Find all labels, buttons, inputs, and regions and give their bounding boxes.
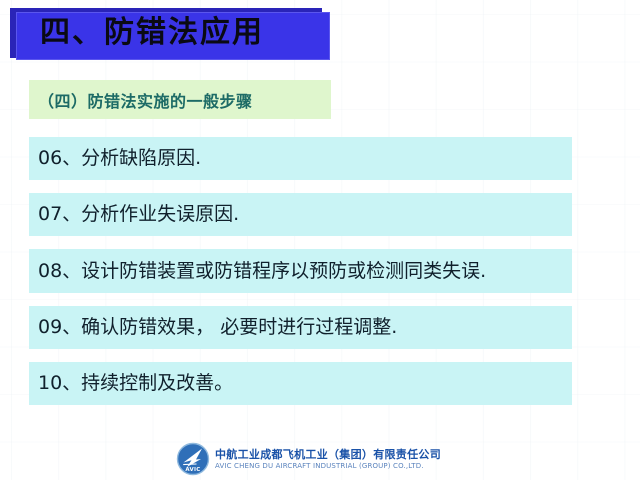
footer-text-group: 中航工业成都飞机工业（集团）有限责任公司 AVIC CHENG DU AIRCR… [215, 448, 441, 471]
company-name-en: AVIC CHENG DU AIRCRAFT INDUSTRIAL (GROUP… [215, 461, 441, 471]
list-item: 10、持续控制及改善。 [29, 362, 572, 405]
page-title: 四、防错法应用 [40, 11, 264, 55]
footer-branding: AVIC 中航工业成都飞机工业（集团）有限责任公司 AVIC CHENG DU … [176, 441, 466, 477]
avic-logo-icon: AVIC [176, 442, 210, 476]
slide-title-block: 四、防错法应用 [10, 8, 332, 60]
list-item: 09、确认防错效果， 必要时进行过程调整. [29, 306, 572, 349]
list-item: 08、设计防错装置或防错程序以预防或检测同类失误. [29, 249, 572, 293]
subtitle-label: （四）防错法实施的一般步骤 [29, 88, 253, 112]
slide-canvas: 四、防错法应用 （四）防错法实施的一般步骤 06、分析缺陷原因. 07、分析作业… [0, 0, 640, 480]
company-name-cn: 中航工业成都飞机工业（集团）有限责任公司 [215, 448, 441, 461]
svg-text:AVIC: AVIC [185, 467, 200, 473]
list-item: 06、分析缺陷原因. [29, 137, 572, 180]
subtitle-banner: （四）防错法实施的一般步骤 [29, 80, 331, 119]
steps-list: 06、分析缺陷原因. 07、分析作业失误原因. 08、设计防错装置或防错程序以预… [29, 137, 572, 418]
list-item: 07、分析作业失误原因. [29, 193, 572, 236]
